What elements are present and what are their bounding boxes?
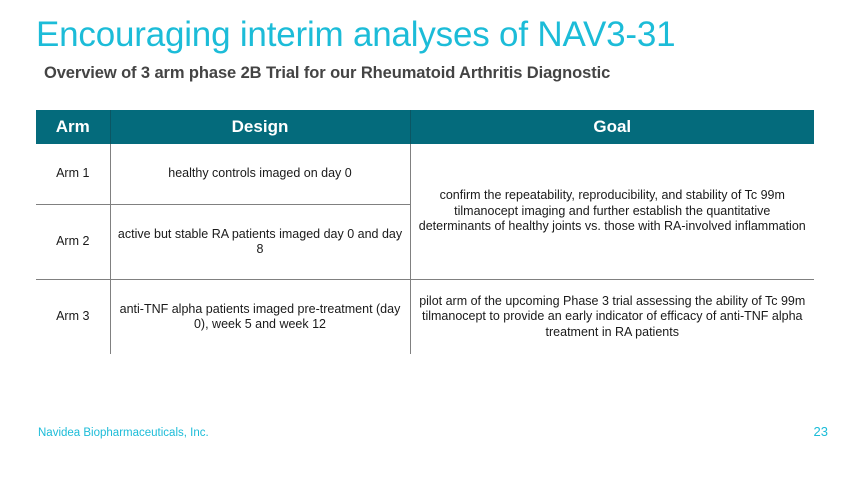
cell-arm-1: Arm 1 [36, 144, 110, 205]
column-header-arm: Arm [36, 110, 110, 144]
page-title: Encouraging interim analyses of NAV3-31 [36, 14, 826, 56]
footer-page-number: 23 [814, 424, 828, 440]
cell-design-2: active but stable RA patients imaged day… [110, 205, 410, 280]
table-body: Arm 1 healthy controls imaged on day 0 c… [36, 144, 814, 354]
table-header-row: Arm Design Goal [36, 110, 814, 144]
cell-goal-3: pilot arm of the upcoming Phase 3 trial … [410, 280, 814, 355]
cell-arm-2: Arm 2 [36, 205, 110, 280]
table-row: Arm 3 anti-TNF alpha patients imaged pre… [36, 280, 814, 355]
column-header-goal: Goal [410, 110, 814, 144]
cell-design-3: anti-TNF alpha patients imaged pre-treat… [110, 280, 410, 355]
footer-company-name: Navidea Biopharmaceuticals, Inc. [38, 426, 209, 441]
column-header-design: Design [110, 110, 410, 144]
cell-design-1: healthy controls imaged on day 0 [110, 144, 410, 205]
table-header: Arm Design Goal [36, 110, 814, 144]
cell-arm-3: Arm 3 [36, 280, 110, 355]
table-row: Arm 1 healthy controls imaged on day 0 c… [36, 144, 814, 205]
cell-goal-1-2: confirm the repeatability, reproducibili… [410, 144, 814, 280]
trial-overview-table: Arm Design Goal Arm 1 healthy controls i… [36, 110, 814, 354]
page-subtitle: Overview of 3 arm phase 2B Trial for our… [44, 62, 844, 84]
